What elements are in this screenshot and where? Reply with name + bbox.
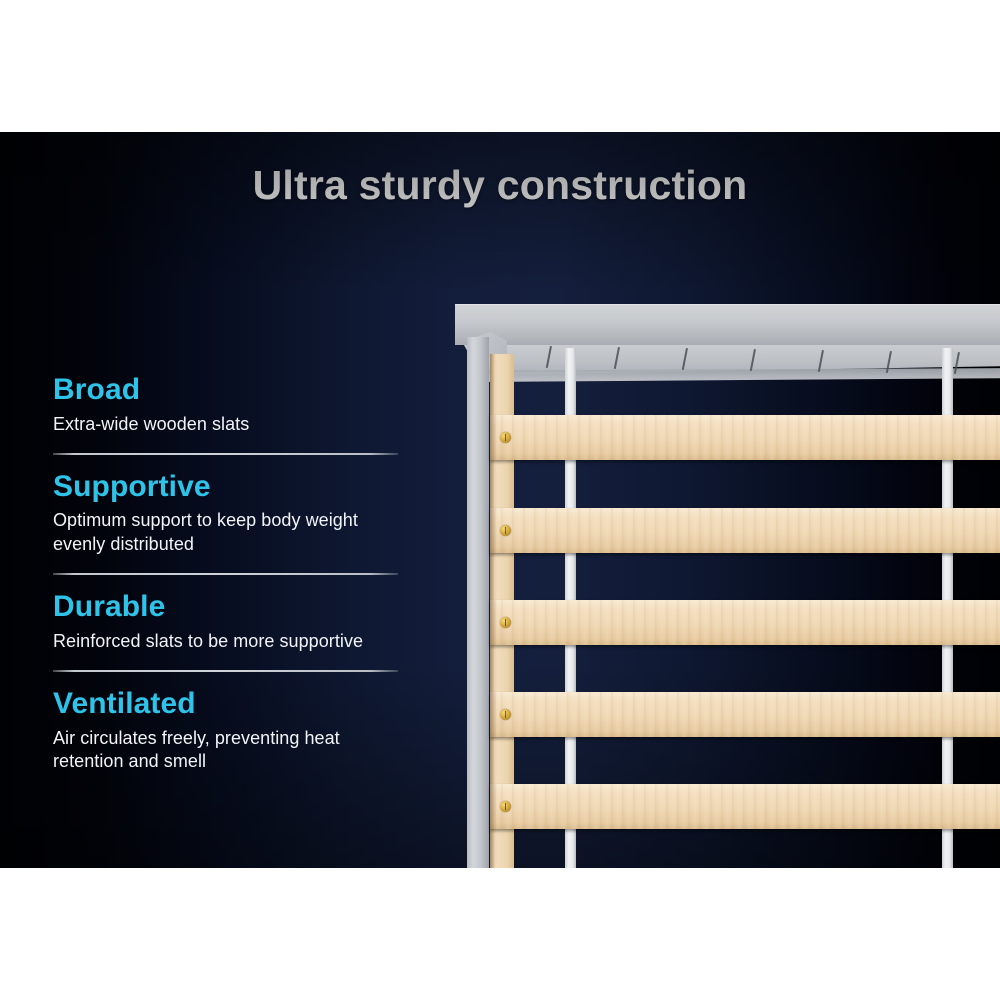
feature-title: Durable [53,591,401,623]
wooden-slat [490,508,1000,553]
wooden-slat [490,415,1000,460]
brass-screw [500,709,511,720]
brass-screw [500,617,511,628]
brass-screw [500,801,511,812]
feature-description: Air circulates freely, preventing heat r… [53,727,401,774]
brass-screw [500,525,511,536]
feature-item-ventilated: Ventilated Air circulates freely, preven… [53,688,401,773]
feature-divider [53,670,398,672]
wooden-slat [490,784,1000,829]
feature-title: Ventilated [53,688,401,720]
banner-stage: Ultra sturdy construction Broad Extra-wi… [0,0,1000,1000]
grey-leg-post [467,337,489,868]
feature-description: Extra-wide wooden slats [53,413,401,436]
product-image [440,132,1000,868]
grey-head-rail [455,304,1000,345]
feature-list: Broad Extra-wide wooden slats Supportive… [53,374,401,773]
feature-description: Reinforced slats to be more supportive [53,630,401,653]
feature-divider [53,453,398,455]
feature-divider [53,573,398,575]
dark-banner-panel: Ultra sturdy construction Broad Extra-wi… [0,132,1000,868]
feature-item-durable: Durable Reinforced slats to be more supp… [53,591,401,653]
wooden-slat [490,692,1000,737]
feature-column: Broad Extra-wide wooden slats Supportive… [0,264,440,868]
wooden-slat [490,600,1000,645]
feature-description: Optimum support to keep body weight even… [53,509,401,556]
feature-title: Supportive [53,471,401,503]
feature-title: Broad [53,374,401,406]
feature-item-broad: Broad Extra-wide wooden slats [53,374,401,436]
feature-item-supportive: Supportive Optimum support to keep body … [53,471,401,556]
brass-screw [500,432,511,443]
